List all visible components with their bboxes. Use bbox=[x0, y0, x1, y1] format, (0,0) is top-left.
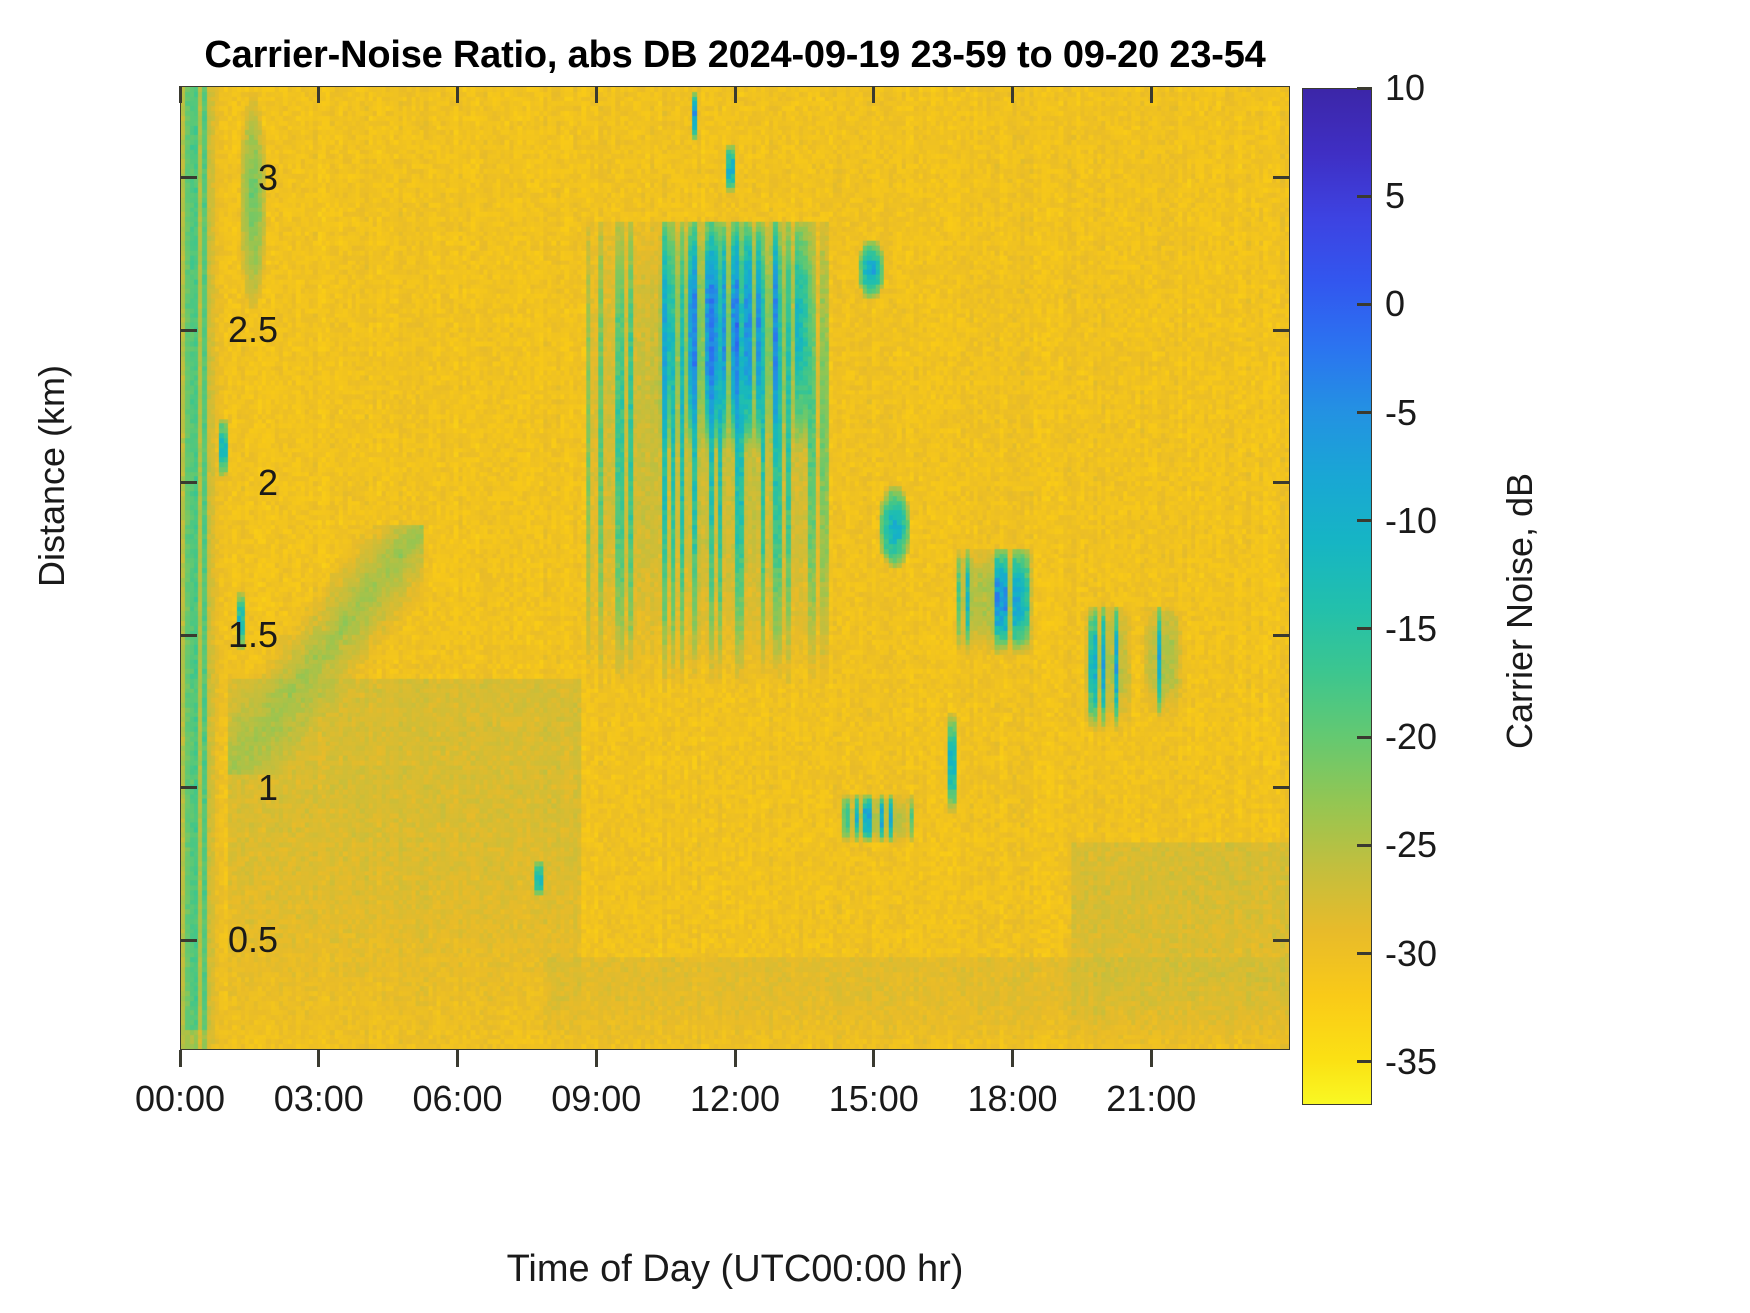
x-tick-mark-top bbox=[734, 86, 737, 103]
x-tick-mark-top bbox=[872, 86, 875, 103]
y-tick-mark bbox=[180, 634, 197, 637]
colorbar-tick-mark bbox=[1357, 1060, 1372, 1063]
y-tick-label-2: 2 bbox=[258, 462, 278, 504]
x-tick-mark bbox=[456, 1050, 459, 1067]
x-tick-mark-top bbox=[179, 86, 182, 103]
x-tick-mark-top bbox=[595, 86, 598, 103]
colorbar-tick-mark bbox=[1357, 736, 1372, 739]
colorbar-tick-label--30: -30 bbox=[1385, 933, 1437, 975]
x-tick-mark bbox=[1150, 1050, 1153, 1067]
y-tick-label-0.5: 0.5 bbox=[228, 919, 278, 961]
x-tick-mark-top bbox=[456, 86, 459, 103]
x-tick-mark bbox=[1011, 1050, 1014, 1067]
x-tick-label-03-00: 03:00 bbox=[274, 1078, 364, 1120]
heatmap-plot-area[interactable] bbox=[180, 86, 1290, 1050]
x-tick-label-18-00: 18:00 bbox=[967, 1078, 1057, 1120]
colorbar-tick-label--35: -35 bbox=[1385, 1041, 1437, 1083]
y-tick-label-2.5: 2.5 bbox=[228, 309, 278, 351]
colorbar-tick-mark bbox=[1357, 195, 1372, 198]
y-tick-label-1.5: 1.5 bbox=[228, 614, 278, 656]
y-axis-title: Distance (km) bbox=[31, 156, 73, 796]
chart-title: Carrier-Noise Ratio, abs DB 2024-09-19 2… bbox=[180, 34, 1290, 77]
x-tick-mark bbox=[317, 1050, 320, 1067]
x-axis-title: Time of Day (UTC00:00 hr) bbox=[180, 1248, 1290, 1291]
chart-figure: Carrier-Noise Ratio, abs DB 2024-09-19 2… bbox=[0, 0, 1750, 1313]
colorbar-tick-mark bbox=[1357, 627, 1372, 630]
x-tick-mark bbox=[595, 1050, 598, 1067]
x-tick-mark-top bbox=[1150, 86, 1153, 103]
y-tick-mark-right bbox=[1273, 939, 1290, 942]
x-tick-mark-top bbox=[317, 86, 320, 103]
y-tick-label-3: 3 bbox=[258, 157, 278, 199]
x-tick-label-12-00: 12:00 bbox=[690, 1078, 780, 1120]
colorbar-tick-mark bbox=[1357, 519, 1372, 522]
y-tick-mark-right bbox=[1273, 481, 1290, 484]
colorbar-tick-label-0: 0 bbox=[1385, 283, 1405, 325]
y-tick-mark bbox=[180, 786, 197, 789]
colorbar-tick-mark bbox=[1357, 87, 1372, 90]
x-tick-label-00-00: 00:00 bbox=[135, 1078, 225, 1120]
colorbar-tick-label--20: -20 bbox=[1385, 716, 1437, 758]
x-tick-mark bbox=[734, 1050, 737, 1067]
x-tick-mark-top bbox=[1011, 86, 1014, 103]
colorbar-title: Carrier Noise, dB bbox=[1499, 291, 1541, 931]
colorbar-tick-label--5: -5 bbox=[1385, 392, 1417, 434]
x-tick-label-21-00: 21:00 bbox=[1106, 1078, 1196, 1120]
y-tick-mark bbox=[180, 329, 197, 332]
colorbar-tick-mark bbox=[1357, 411, 1372, 414]
colorbar-tick-mark bbox=[1357, 303, 1372, 306]
x-tick-label-09-00: 09:00 bbox=[551, 1078, 641, 1120]
y-tick-mark bbox=[180, 939, 197, 942]
y-tick-label-1: 1 bbox=[258, 767, 278, 809]
colorbar-tick-label--15: -15 bbox=[1385, 608, 1437, 650]
colorbar-tick-label-10: 10 bbox=[1385, 67, 1425, 109]
x-tick-label-06-00: 06:00 bbox=[412, 1078, 502, 1120]
colorbar-tick-label--25: -25 bbox=[1385, 824, 1437, 866]
y-tick-mark-right bbox=[1273, 786, 1290, 789]
heatmap-image bbox=[181, 87, 1289, 1049]
y-tick-mark bbox=[180, 176, 197, 179]
x-tick-mark bbox=[179, 1050, 182, 1067]
y-tick-mark-right bbox=[1273, 634, 1290, 637]
x-tick-label-15-00: 15:00 bbox=[829, 1078, 919, 1120]
y-tick-mark bbox=[180, 481, 197, 484]
colorbar-tick-mark bbox=[1357, 844, 1372, 847]
x-tick-mark bbox=[872, 1050, 875, 1067]
y-tick-mark-right bbox=[1273, 176, 1290, 179]
y-tick-mark-right bbox=[1273, 329, 1290, 332]
colorbar-tick-mark bbox=[1357, 952, 1372, 955]
colorbar-tick-label--10: -10 bbox=[1385, 500, 1437, 542]
colorbar-tick-label-5: 5 bbox=[1385, 175, 1405, 217]
